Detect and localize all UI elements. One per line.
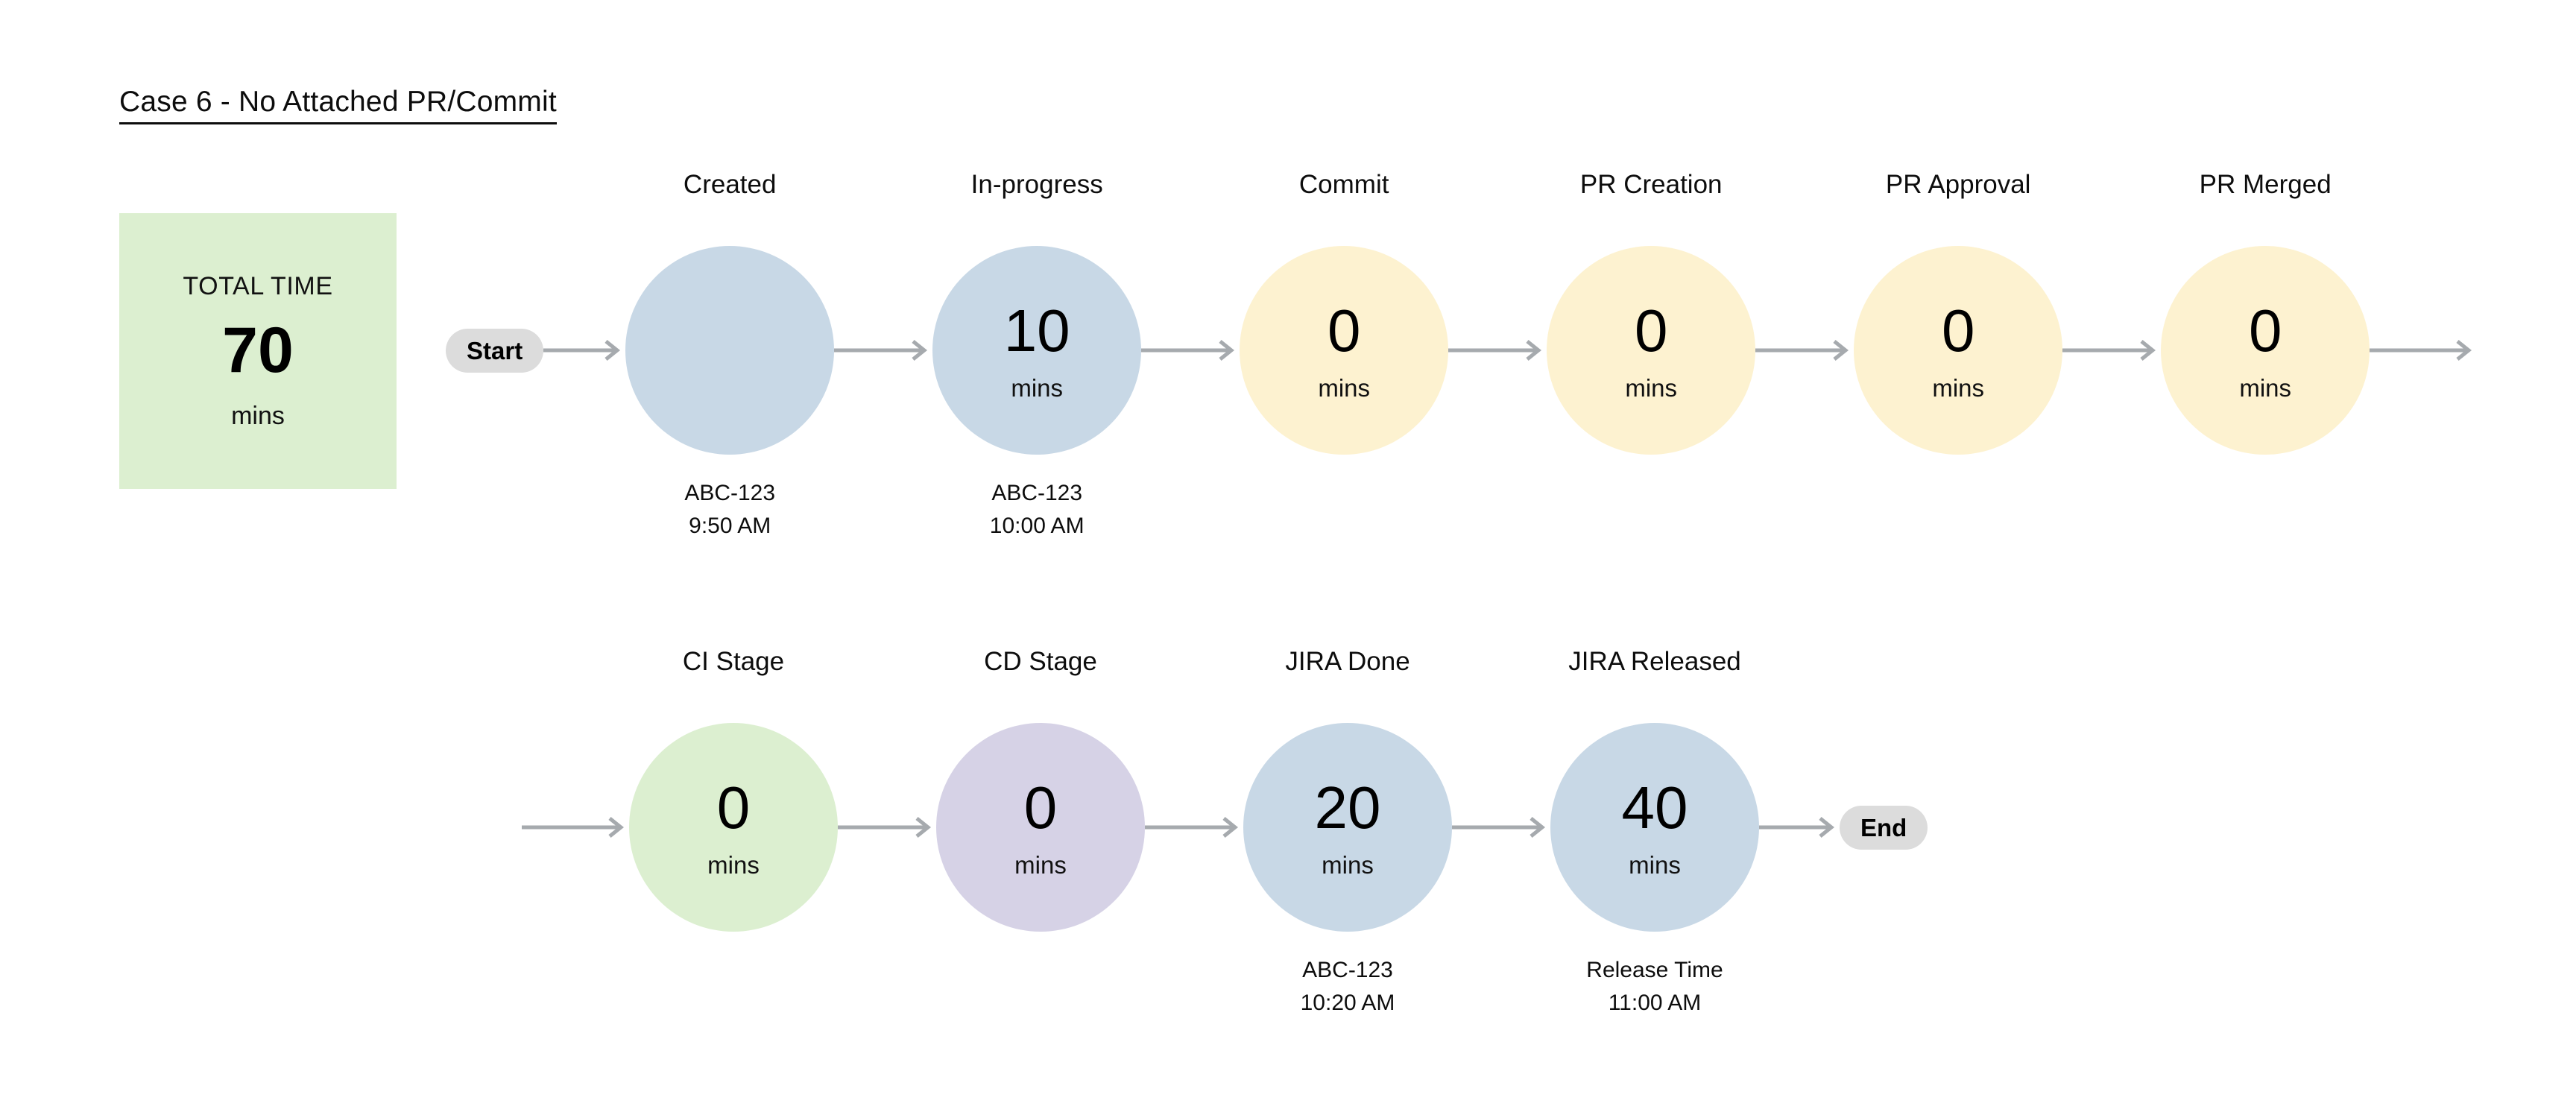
node-unit: mins — [1625, 376, 1677, 400]
flow-node-jira-released[interactable]: JIRA Released 40 mins Release Time 11:00… — [1550, 716, 1759, 939]
flow-node-pr-merged[interactable]: PR Merged 0 mins — [2161, 239, 2370, 462]
node-annotation: ABC-123 9:50 AM — [684, 477, 775, 543]
row-wrap-arrow-out — [2370, 239, 2477, 462]
node-value: 0 — [1328, 301, 1361, 361]
node-annotation-ticket: ABC-123 — [1302, 958, 1393, 982]
node-annotation-time: 11:00 AM — [1586, 987, 1723, 1020]
node-label: Created — [684, 171, 777, 198]
total-time-value: 70 — [222, 318, 294, 382]
start-terminator[interactable]: Start — [446, 329, 543, 373]
node-value: 20 — [1315, 778, 1381, 838]
connector-arrow — [2062, 239, 2161, 462]
node-annotation-time: 10:20 AM — [1301, 987, 1395, 1020]
flow-node-jira-done[interactable]: JIRA Done 20 mins ABC-123 10:20 AM — [1243, 716, 1452, 939]
node-unit: mins — [1011, 376, 1063, 400]
node-unit: mins — [2239, 376, 2291, 400]
connector-arrow — [1759, 716, 1840, 939]
node-circle[interactable]: 0 mins — [1854, 246, 2062, 455]
connector-arrow — [834, 239, 932, 462]
node-annotation-time: 10:00 AM — [990, 510, 1085, 543]
connector-arrow — [838, 716, 936, 939]
node-unit: mins — [1322, 853, 1374, 877]
flow-node-created[interactable]: Created ABC-123 9:50 AM — [625, 239, 834, 462]
connector-arrow — [1448, 239, 1547, 462]
connector-arrow — [1145, 716, 1243, 939]
node-label: PR Merged — [2200, 171, 2332, 198]
node-annotation: ABC-123 10:00 AM — [990, 477, 1085, 543]
total-time-card: TOTAL TIME 70 mins — [119, 213, 397, 489]
node-value: 0 — [1942, 301, 1975, 361]
node-label: JIRA Released — [1568, 648, 1741, 675]
node-value: 0 — [2249, 301, 2282, 361]
end-terminator[interactable]: End — [1840, 806, 1928, 850]
row-wrap-arrow-in — [522, 716, 629, 939]
connector-arrow — [543, 239, 625, 462]
node-label: PR Creation — [1580, 171, 1723, 198]
node-label: Commit — [1299, 171, 1389, 198]
node-label: In-progress — [971, 171, 1103, 198]
node-annotation-ticket: ABC-123 — [684, 481, 775, 505]
connector-arrow — [1141, 239, 1240, 462]
node-value: 0 — [1635, 301, 1668, 361]
connector-arrow — [1755, 239, 1854, 462]
flow-node-commit[interactable]: Commit 0 mins — [1240, 239, 1448, 462]
node-value: 10 — [1004, 301, 1070, 361]
node-unit: mins — [1932, 376, 1984, 400]
node-value: 40 — [1622, 778, 1688, 838]
flow-node-cd-stage[interactable]: CD Stage 0 mins — [936, 716, 1145, 939]
node-circle[interactable]: 0 mins — [1547, 246, 1755, 455]
node-circle[interactable]: 40 mins — [1550, 723, 1759, 932]
node-circle[interactable]: 0 mins — [2161, 246, 2370, 455]
node-circle[interactable]: 10 mins — [932, 246, 1141, 455]
node-label: PR Approval — [1886, 171, 2031, 198]
node-unit: mins — [1629, 853, 1681, 877]
node-label: CI Stage — [683, 648, 784, 675]
node-annotation: Release Time 11:00 AM — [1586, 954, 1723, 1020]
node-annotation-label: Release Time — [1586, 958, 1723, 982]
node-annotation: ABC-123 10:20 AM — [1301, 954, 1395, 1020]
node-circle[interactable]: 20 mins — [1243, 723, 1452, 932]
flow-node-in-progress[interactable]: In-progress 10 mins ABC-123 10:00 AM — [932, 239, 1141, 462]
flow-node-pr-approval[interactable]: PR Approval 0 mins — [1854, 239, 2062, 462]
node-unit: mins — [707, 853, 760, 877]
node-unit: mins — [1318, 376, 1370, 400]
flow-node-ci-stage[interactable]: CI Stage 0 mins — [629, 716, 838, 939]
connector-arrow — [1452, 716, 1550, 939]
node-circle[interactable]: 0 mins — [629, 723, 838, 932]
node-annotation-time: 9:50 AM — [684, 510, 775, 543]
total-time-label: TOTAL TIME — [183, 274, 332, 299]
node-unit: mins — [1014, 853, 1067, 877]
node-label: CD Stage — [984, 648, 1097, 675]
node-value: 0 — [1024, 778, 1058, 838]
node-circle[interactable]: 0 mins — [1240, 246, 1448, 455]
node-label: JIRA Done — [1285, 648, 1409, 675]
total-time-unit: mins — [231, 403, 285, 429]
node-annotation-ticket: ABC-123 — [991, 481, 1082, 505]
node-circle[interactable]: 0 mins — [936, 723, 1145, 932]
node-circle[interactable] — [625, 246, 834, 455]
flow-row-1: Start Created ABC-123 9:50 AM — [446, 239, 2477, 462]
flow-row-2: CI Stage 0 mins CD Stage 0 mins — [522, 716, 1928, 939]
node-value: 0 — [717, 778, 751, 838]
flow-node-pr-creation[interactable]: PR Creation 0 mins — [1547, 239, 1755, 462]
page-title: Case 6 - No Attached PR/Commit — [119, 86, 557, 124]
